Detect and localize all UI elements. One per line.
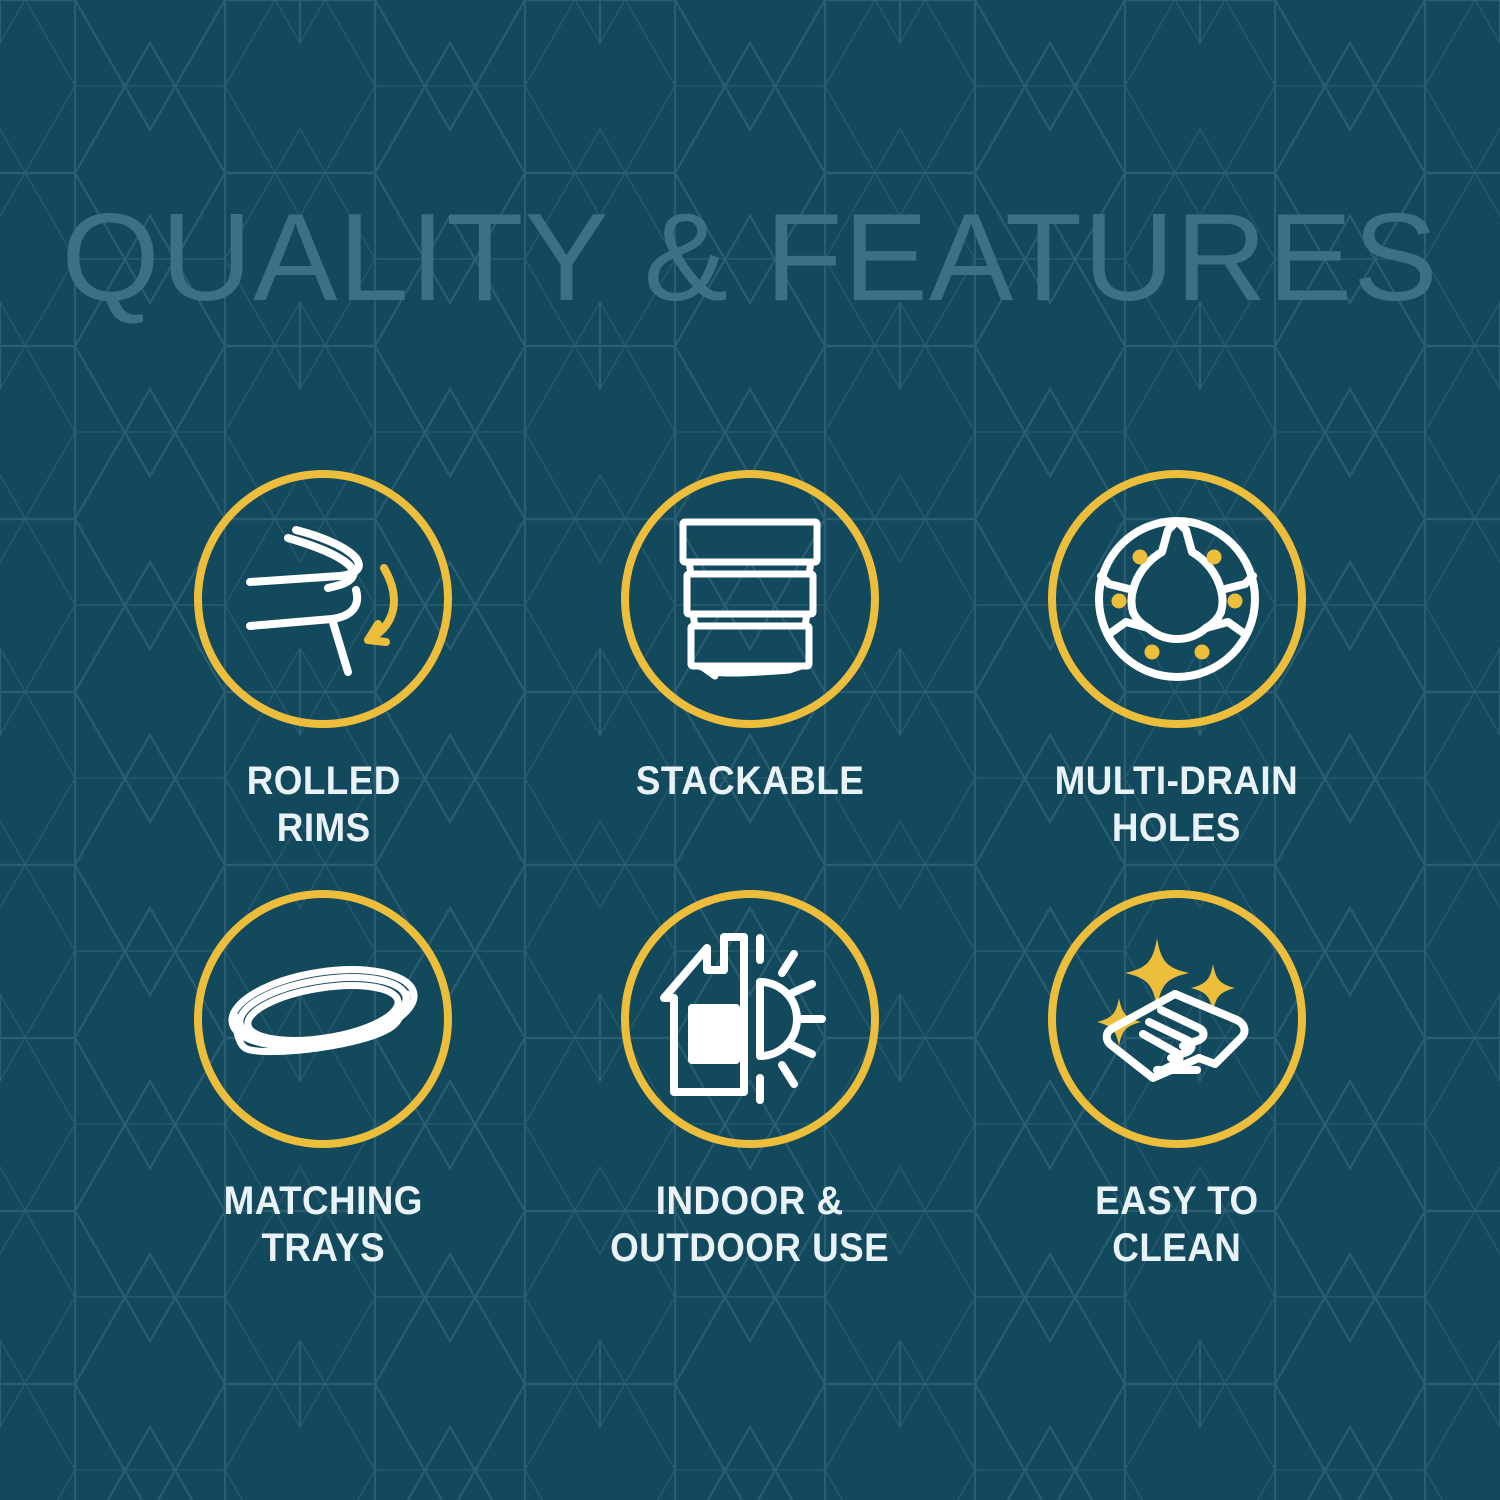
feature-label: STACKABLE (636, 758, 864, 805)
feature-label: INDOOR & OUTDOOR USE (610, 1178, 889, 1272)
feature-item-multi-drain-holes[interactable]: MULTI-DRAIN HOLES (963, 470, 1390, 890)
feature-icon-circle (621, 890, 879, 1148)
feature-infographic: QUALITY & FEATURES (0, 0, 1500, 1500)
pot-base-drain-holes-icon (1082, 504, 1272, 694)
stacked-pots-icon (655, 504, 845, 694)
feature-label: ROLLED RIMS (246, 758, 400, 852)
page-title: QUALITY & FEATURES (0, 196, 1500, 320)
hand-wiping-sparkles-icon (1079, 924, 1275, 1114)
feature-item-indoor-outdoor-use[interactable]: INDOOR & OUTDOOR USE (537, 890, 964, 1310)
feature-item-easy-to-clean[interactable]: EASY TO CLEAN (963, 890, 1390, 1310)
feature-label: EASY TO CLEAN (1095, 1178, 1258, 1272)
feature-item-matching-trays[interactable]: MATCHING TRAYS (110, 890, 537, 1310)
feature-icon-circle (1048, 470, 1306, 728)
feature-item-rolled-rims[interactable]: ROLLED RIMS (110, 470, 537, 890)
feature-grid: ROLLED RIMS (110, 470, 1390, 1310)
feature-label: MULTI-DRAIN HOLES (1055, 758, 1299, 852)
feature-icon-circle (194, 470, 452, 728)
feature-icon-circle (1048, 890, 1306, 1148)
rolled-rim-icon (228, 504, 418, 694)
saucer-tray-icon (223, 924, 423, 1114)
feature-icon-circle (194, 890, 452, 1148)
house-and-sun-icon (652, 924, 848, 1114)
feature-icon-circle (621, 470, 879, 728)
feature-label: MATCHING TRAYS (224, 1178, 423, 1272)
feature-item-stackable[interactable]: STACKABLE (537, 470, 964, 890)
